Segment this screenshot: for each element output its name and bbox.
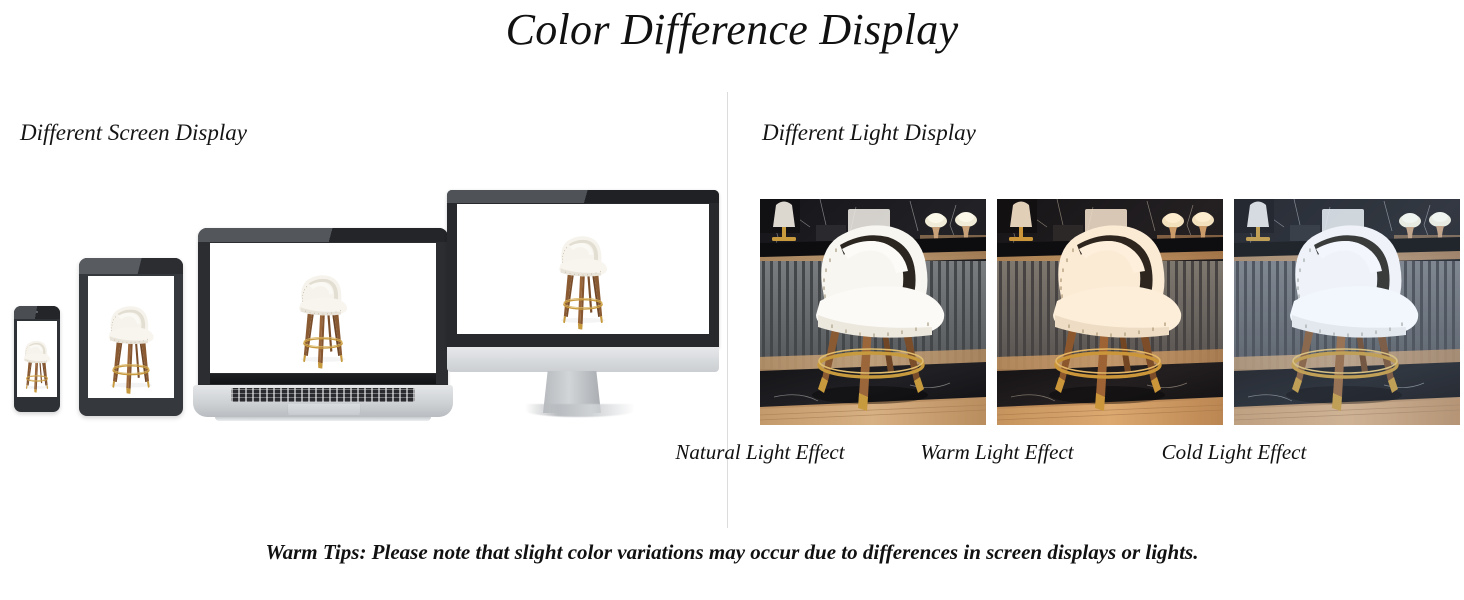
- phone-screen: [17, 321, 57, 397]
- tablet-bezel-gloss: [79, 258, 183, 274]
- device-phone: [14, 306, 60, 412]
- light-photo-warm: [997, 199, 1223, 425]
- warm-tips-note: Warm Tips: Please note that slight color…: [0, 540, 1464, 565]
- tablet-screen: [88, 276, 174, 398]
- laptop-keyboard: [231, 388, 415, 402]
- chair-product-image: [17, 321, 57, 397]
- page-title: Color Difference Display: [0, 4, 1464, 55]
- device-tablet: [79, 258, 183, 416]
- section-label-light: Different Light Display: [762, 120, 976, 146]
- warm-light-tint: [997, 199, 1223, 425]
- light-photo-natural: [760, 199, 986, 425]
- chair-product-image: [210, 243, 436, 373]
- monitor-chin: [447, 347, 719, 372]
- caption-warm-light: Warm Light Effect: [884, 440, 1110, 465]
- caption-cold-light: Cold Light Effect: [1121, 440, 1347, 465]
- light-photo-group: [760, 199, 1460, 425]
- light-photo-cold: [1234, 199, 1460, 425]
- laptop-foot: [215, 417, 431, 421]
- section-label-screen: Different Screen Display: [20, 120, 247, 146]
- caption-natural-light: Natural Light Effect: [647, 440, 873, 465]
- phone-camera-icon: [36, 311, 38, 313]
- laptop-hinge: [210, 374, 436, 384]
- device-monitor: [447, 190, 719, 415]
- monitor-bezel-gloss: [447, 190, 719, 203]
- cold-light-tint: [1234, 199, 1460, 425]
- laptop-screen: [210, 243, 436, 373]
- device-laptop: [193, 228, 453, 422]
- kitchen-scene-natural: [760, 199, 986, 425]
- monitor-screen: [457, 204, 709, 334]
- monitor-lid: [447, 190, 719, 348]
- laptop-lid: [198, 228, 448, 388]
- laptop-bezel-gloss: [198, 228, 448, 242]
- monitor-stand-base: [525, 404, 635, 417]
- chair-product-image: [457, 204, 709, 334]
- laptop-trackpad: [287, 404, 361, 415]
- device-mockup-group: [0, 160, 727, 460]
- color-difference-display-page: Color Difference Display Different Scree…: [0, 0, 1464, 600]
- chair-product-image: [88, 276, 174, 398]
